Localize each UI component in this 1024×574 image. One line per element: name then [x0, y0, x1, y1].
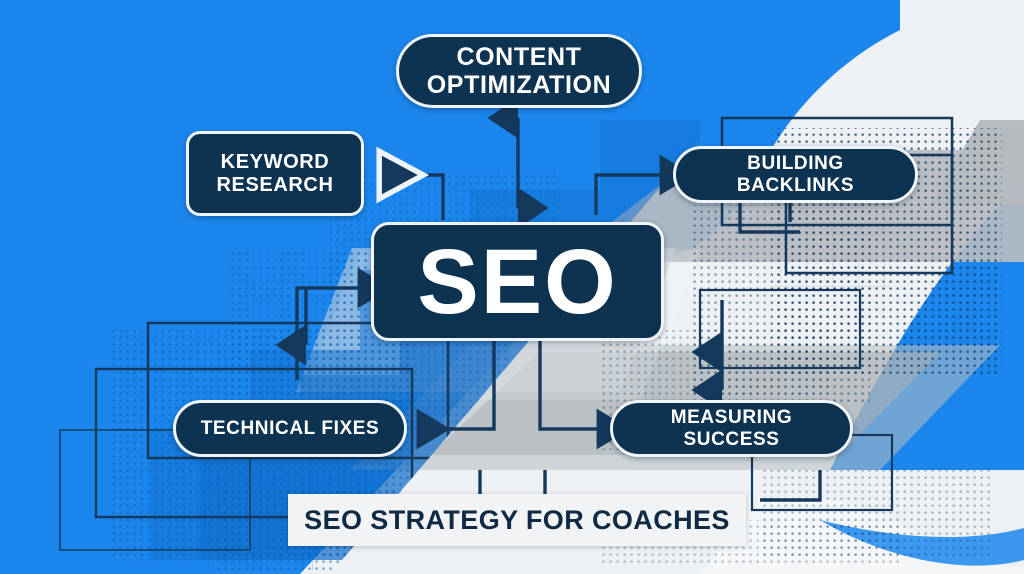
node-keyword-research-label: KEYWORD RESEARCH	[199, 151, 351, 196]
node-technical-fixes-label: TECHNICAL FIXES	[201, 418, 380, 439]
seo-strategy-infographic: CONTENT OPTIMIZATION : vertical double a…	[0, 0, 1024, 574]
node-building-backlinks[interactable]: BUILDING BACKLINKS	[673, 146, 918, 203]
node-seo-center[interactable]: SEO	[371, 222, 664, 341]
title-banner-text: SEO STRATEGY FOR COACHES	[304, 505, 730, 536]
node-technical-fixes[interactable]: TECHNICAL FIXES	[173, 400, 407, 457]
title-banner: SEO STRATEGY FOR COACHES	[288, 494, 746, 546]
node-building-backlinks-label: BUILDING BACKLINKS	[688, 153, 903, 196]
node-measuring-success[interactable]: MEASURING SUCCESS	[610, 400, 853, 457]
node-measuring-success-label: MEASURING SUCCESS	[625, 407, 838, 450]
node-keyword-research[interactable]: KEYWORD RESEARCH	[186, 131, 364, 216]
node-content-optimization-label: CONTENT OPTIMIZATION	[413, 43, 625, 99]
node-content-optimization[interactable]: CONTENT OPTIMIZATION	[396, 34, 642, 108]
node-seo-label: SEO	[417, 236, 617, 328]
